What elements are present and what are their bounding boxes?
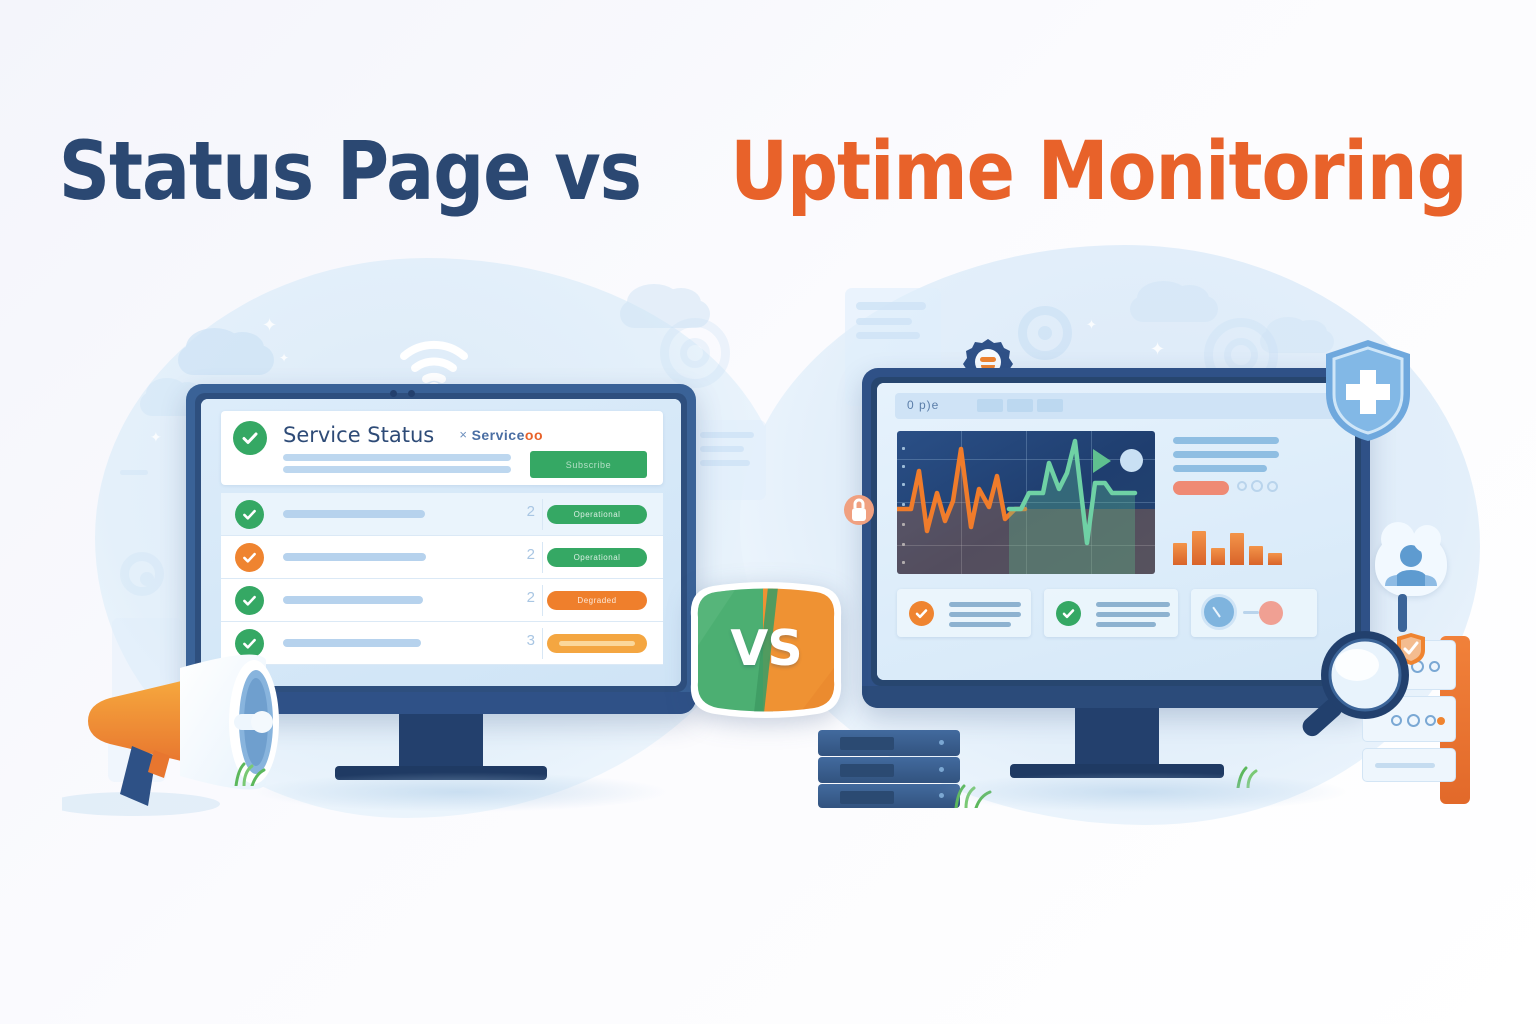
title-part-uptime-monitoring: Uptime Monitoring [731,125,1467,219]
placeholder-line [949,602,1021,607]
indicator-ring [1237,481,1247,491]
status-badge-label: Operational [547,548,647,567]
brand-logo: Serviceoo [472,427,543,443]
ground-shadow [930,772,1350,812]
sparkle-icon: ✦ [1150,340,1165,358]
placeholder-line [1173,451,1279,458]
status-badge-fill [559,641,635,646]
column-divider [542,499,543,530]
bar [1230,533,1244,565]
decor-line [856,318,912,325]
side-rack-panel [1362,748,1456,782]
monitor-stand-neck [1075,708,1159,764]
user-avatar-icon [1375,534,1447,596]
column-divider [542,585,543,616]
table-row[interactable]: 2 Operational [221,493,663,536]
row-metric: 3 [527,632,535,649]
uptime-line-chart [897,431,1155,574]
gear-icon [120,552,164,596]
illustration-canvas: ✦ ✦ ✦ ✦ ✦ Status Page vs Uptime Monitori… [0,0,1536,1024]
indicator-ring [1429,661,1440,672]
sparkle-icon: ✦ [1086,318,1097,331]
decor-line [700,460,750,466]
status-dot [1120,449,1143,472]
placeholder-line [1096,602,1170,607]
bar-chart [1173,507,1285,565]
server-unit [818,757,960,783]
check-circle-icon [909,601,934,626]
toolbar-chip [977,399,1003,412]
bar [1192,531,1206,565]
subscribe-button[interactable]: Subscribe [530,451,647,478]
gear-icon [1018,306,1072,360]
indicator-ring [1425,715,1436,726]
chart-series-svg [897,431,1155,574]
table-row[interactable]: 2 Degraded [221,579,663,622]
vs-badge: VS [683,578,849,722]
gear-icon [660,318,730,388]
column-divider [542,628,543,659]
decor-line [700,432,754,438]
service-name-placeholder [283,553,426,561]
brand-name: Service [472,427,525,443]
status-badge [547,634,647,653]
placeholder-line [283,466,511,473]
server-led [939,767,944,772]
placeholder-line [949,622,1011,627]
alert-bell-icon [1259,601,1283,625]
subscribe-button-label: Subscribe [530,451,647,478]
indicator-ring [1267,481,1278,492]
decor-line [700,446,744,452]
server-slot [840,737,894,750]
sparkle-icon: ✦ [150,430,162,444]
close-icon[interactable]: × [459,427,467,442]
status-led [1437,717,1445,725]
service-name-placeholder [283,510,425,518]
connector-line [1243,611,1259,614]
vs-label: VS [683,578,849,722]
uptime-dashboard-screen: 0 p)e [877,383,1355,680]
status-badge: Operational [547,505,647,524]
status-card[interactable] [1044,589,1178,637]
server-unit [818,730,960,756]
alert-bar [1173,481,1229,495]
status-badge-label: Operational [547,505,647,524]
decor-line [856,332,920,339]
browser-toolbar[interactable]: 0 p)e [895,393,1337,419]
status-badge-label: Degraded [547,591,647,610]
placeholder-line [1173,437,1279,444]
metrics-side-panel [1167,431,1341,581]
play-triangle-icon [1093,449,1111,473]
shield-plus-icon [1322,338,1414,443]
check-circle-icon [235,500,264,529]
grass-decor [230,760,270,786]
status-badge: Degraded [547,591,647,610]
bar [1173,543,1187,565]
gauge-icon [1201,594,1237,630]
lock-badge-icon [842,492,876,536]
toolbar-chip [1037,399,1063,412]
placeholder-line [1375,763,1435,768]
row-metric: 2 [527,589,535,606]
brand-suffix: oo [525,427,543,443]
status-badge: Operational [547,548,647,567]
placeholder-line [283,454,511,461]
webcam-icon [390,390,397,397]
server-slot [840,764,894,777]
bar [1211,548,1225,565]
page-title: Status Page vs Uptime Monitoring [0,125,1536,219]
webcam-icon [408,390,415,397]
decor-cloud [1130,296,1218,322]
table-row[interactable]: 2 Operational [221,536,663,579]
check-circle-icon [1056,601,1081,626]
check-circle-icon [233,421,267,455]
placeholder-line [1096,622,1156,627]
placeholder-line [1173,465,1267,472]
sparkle-icon: ✦ [279,352,289,364]
toolbar-chip [1007,399,1033,412]
decor-line [856,302,926,310]
bar [1249,546,1263,565]
service-status-title: Service Status [283,423,434,447]
decor-cloud [178,345,274,375]
row-metric: 2 [527,503,535,520]
column-divider [542,542,543,573]
indicator-ring [1251,480,1263,492]
service-name-placeholder [283,596,423,604]
server-led [939,740,944,745]
url-text: 0 p)e [907,398,939,412]
sparkle-icon: ✦ [262,316,277,334]
row-metric: 2 [527,546,535,563]
service-status-header-card: Service Status × Serviceoo Subscribe [221,411,663,485]
decor-line [120,470,148,475]
title-part-status-page: Status Page vs [58,125,640,219]
placeholder-line [1096,612,1170,617]
placeholder-line [949,612,1021,617]
status-card[interactable] [897,589,1031,637]
monitor-stand-neck [399,714,483,766]
bar [1268,553,1282,565]
magnifier-icon [1293,628,1413,753]
check-circle-icon [235,586,264,615]
server-slot [840,791,894,804]
ground-shadow [250,772,670,812]
check-circle-icon [235,543,264,572]
avatar-stem [1398,594,1407,632]
